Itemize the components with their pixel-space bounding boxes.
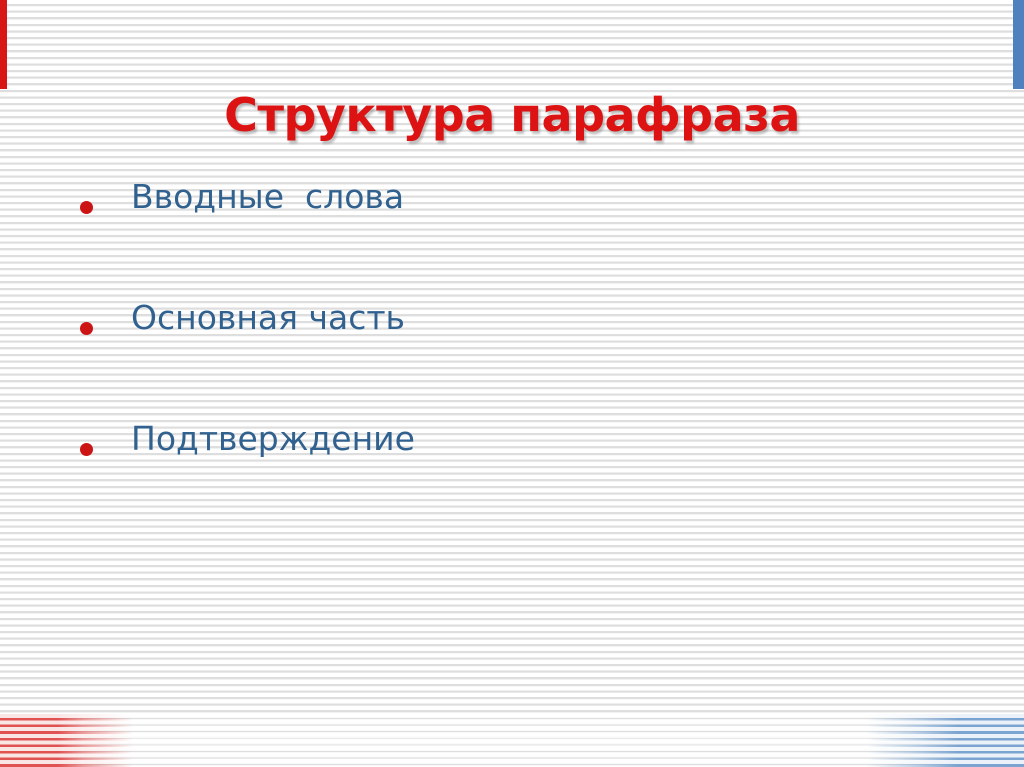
bullet-item-label: Вводные слова [131,176,404,218]
list-item: Подтверждение [0,418,1024,539]
bullet-dot-icon [80,322,93,335]
list-item: Основная часть [0,297,1024,418]
bottom-accent-band [0,714,1024,767]
bullet-dot-icon [80,201,93,214]
bullet-item-label: Основная часть [131,297,405,339]
slide-bullet-list: Вводные слова Основная часть Подтвержден… [0,176,1024,539]
bottom-right-blue-block [958,714,1024,767]
bullet-dot-icon [80,443,93,456]
top-right-blue-accent-bar [1013,0,1024,89]
slide-title: Структура парафраза [0,89,1024,141]
bottom-left-red-gradient [58,714,133,767]
top-left-red-accent-bar [0,0,7,89]
presentation-slide: Структура парафраза Вводные слова Основн… [0,0,1024,767]
bottom-right-blue-gradient [866,714,958,767]
bottom-left-red-block [0,714,58,767]
list-item: Вводные слова [0,176,1024,297]
bullet-item-label: Подтверждение [131,418,415,460]
